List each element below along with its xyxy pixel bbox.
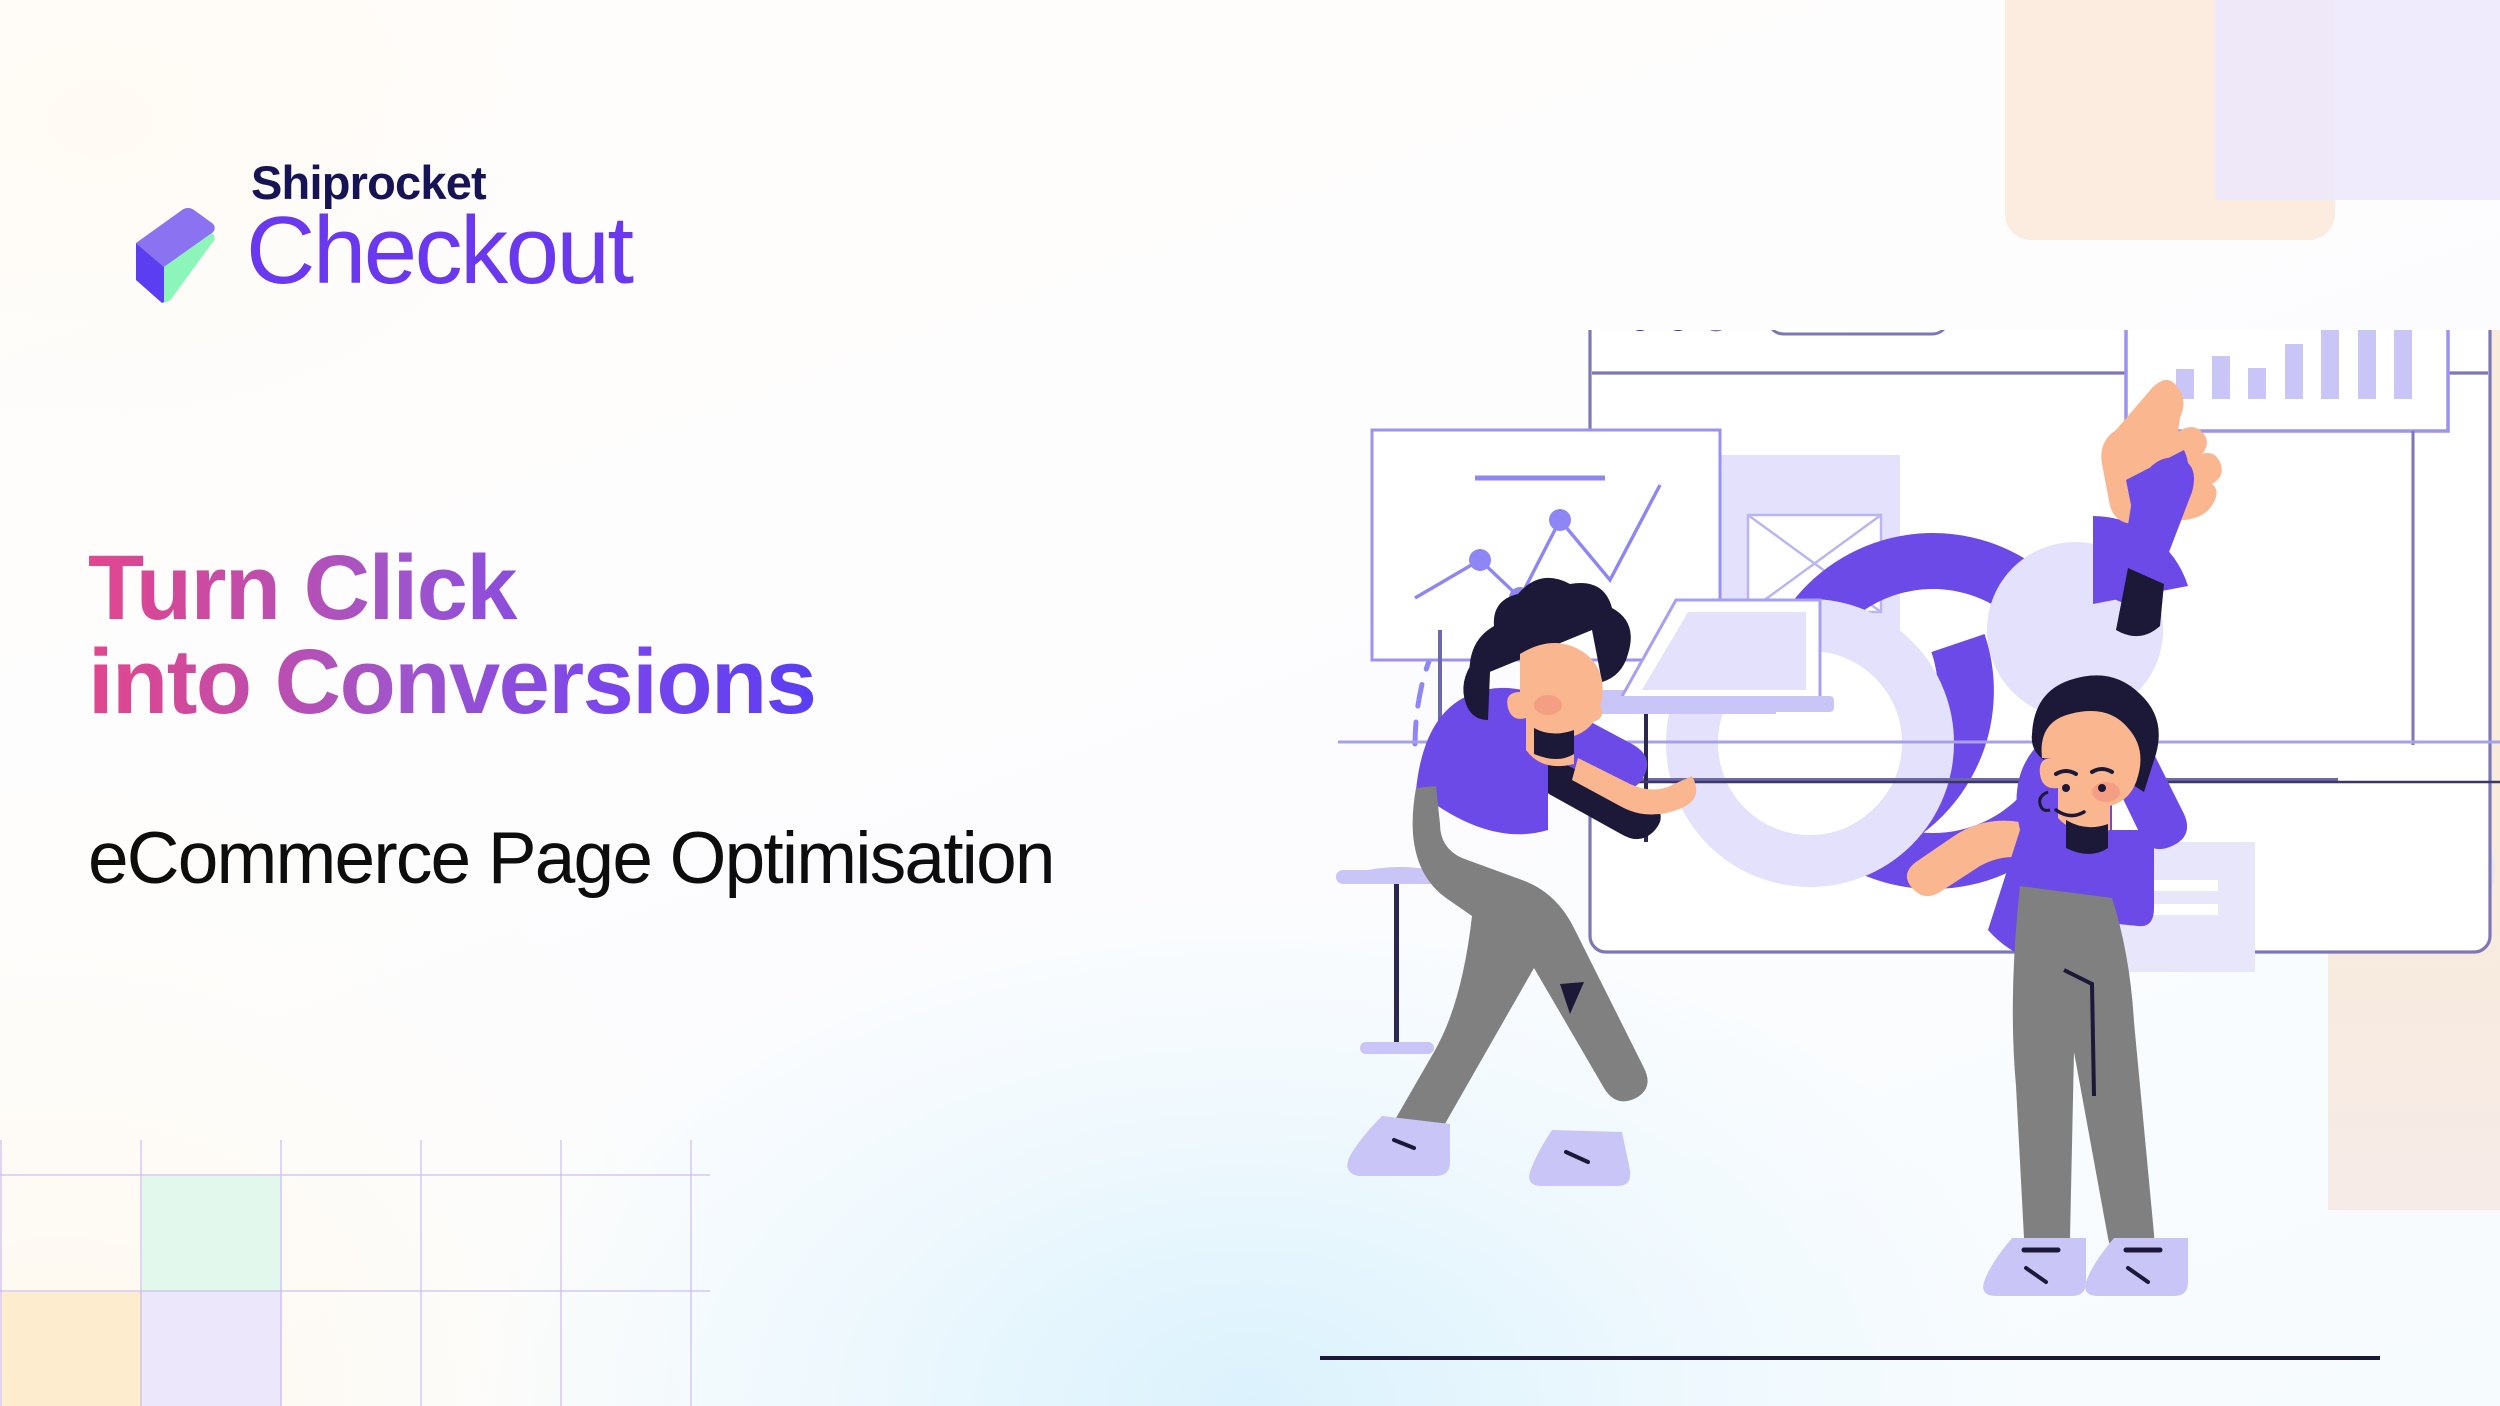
shiprocket-cube-logo-icon xyxy=(100,196,218,311)
hero-banner: Shiprocket Checkout Turn Click into Conv… xyxy=(0,0,2500,1406)
checkout-wordmark: Checkout xyxy=(246,203,632,299)
grid-line-h xyxy=(0,1290,710,1292)
standing-person-eye xyxy=(2062,784,2070,792)
bar xyxy=(2248,368,2266,399)
grid-line-v xyxy=(560,1140,562,1406)
bar xyxy=(2285,344,2303,399)
grid-line-v xyxy=(690,1140,692,1406)
grid-cell-lavender xyxy=(142,1292,282,1406)
grid-line-v xyxy=(280,1140,282,1406)
grid-line-v xyxy=(140,1140,142,1406)
bg-shape-lavender-top-right xyxy=(2215,0,2500,200)
grid-cell-mint xyxy=(142,1176,282,1292)
grid-line-v xyxy=(420,1140,422,1406)
bar xyxy=(2212,356,2230,399)
seated-person-cheek xyxy=(1534,695,1562,715)
grid-cell-peach xyxy=(2,1292,142,1406)
url-bar xyxy=(1768,330,1948,334)
grid-line-v xyxy=(0,1140,2,1406)
headline-line-1: Turn Click xyxy=(88,542,815,636)
bar xyxy=(2394,330,2412,399)
standing-person-shoe xyxy=(2085,1238,2188,1296)
analytics-team-illustration xyxy=(1320,330,2500,1406)
background-grid xyxy=(0,1140,710,1406)
standing-person-eye xyxy=(2098,784,2106,792)
grid-line-h xyxy=(0,1174,710,1176)
standing-person-cheek xyxy=(2092,782,2120,802)
page-subtitle: eCommerce Page Optimisation xyxy=(88,822,1054,895)
headline-line-2: into Conversions xyxy=(88,636,815,730)
bar xyxy=(2321,330,2339,399)
page-title: Turn Click into Conversions xyxy=(88,542,815,730)
line-chart-marker xyxy=(1469,549,1491,571)
seated-person-shoe xyxy=(1347,1116,1450,1176)
standing-person-shoe xyxy=(1983,1238,2086,1296)
line-chart-marker xyxy=(1549,509,1571,531)
bar xyxy=(2358,330,2376,399)
